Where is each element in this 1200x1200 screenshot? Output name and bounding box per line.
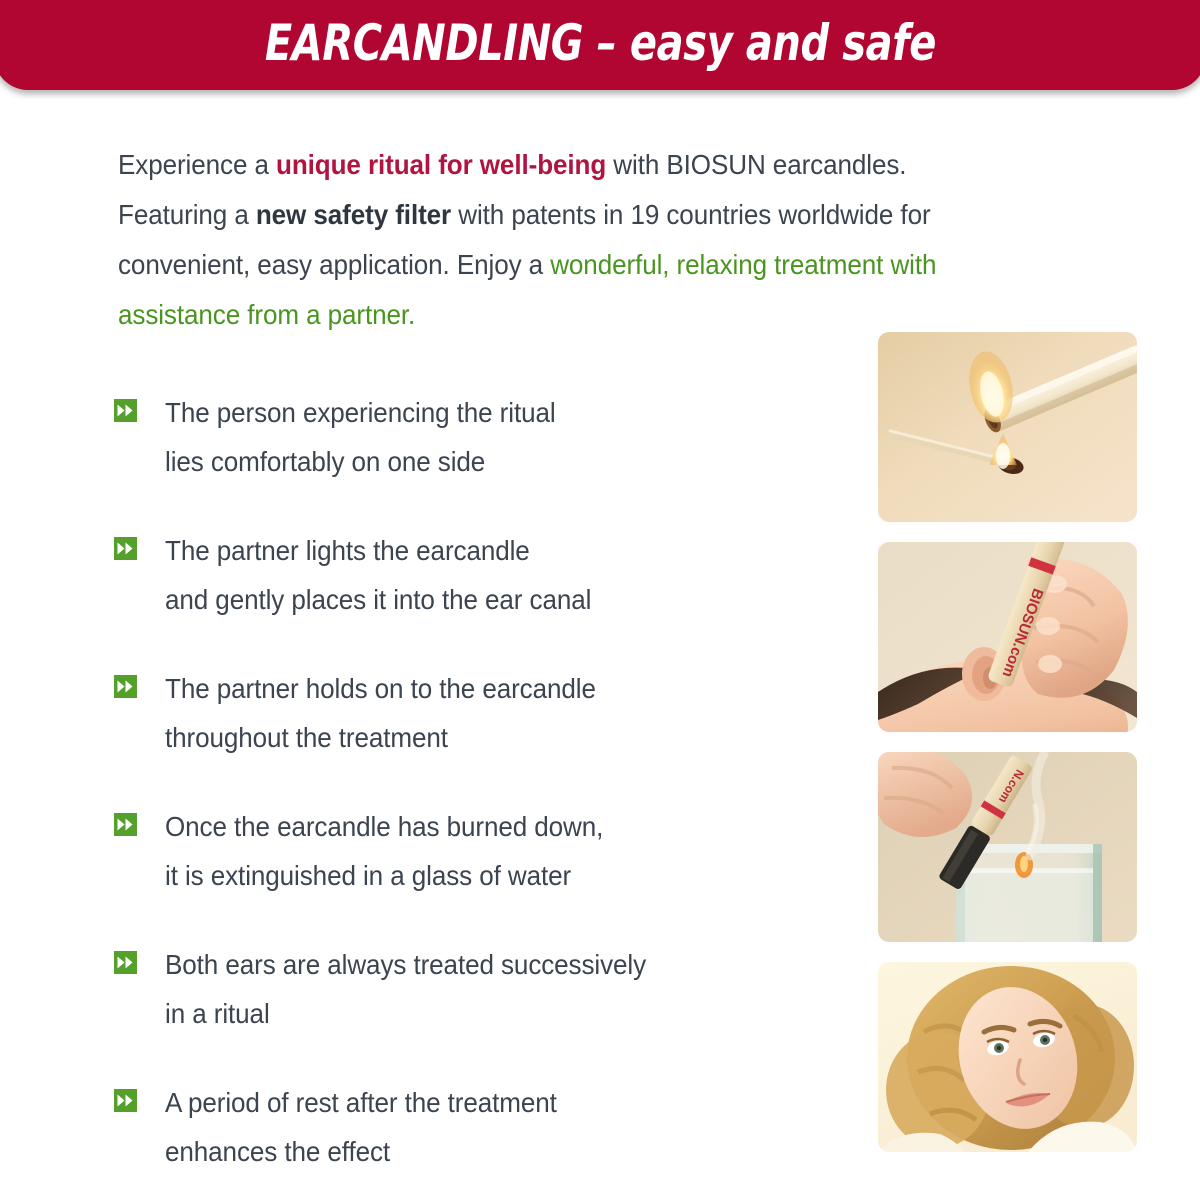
double-chevron-right-icon bbox=[114, 813, 137, 836]
list-item: The person experiencing the ritual lies … bbox=[114, 388, 834, 486]
earcandling-info-page: EARCANDLING – easy and safe Experience a… bbox=[0, 0, 1200, 1200]
steps-list: The person experiencing the ritual lies … bbox=[114, 388, 834, 1176]
photo-column: BIOSUN.com bbox=[878, 332, 1137, 1152]
list-item-label: Once the earcandle has burned down, it i… bbox=[165, 802, 603, 900]
intro-highlight-dark: new safety filter bbox=[256, 199, 451, 230]
photo-extinguishing-in-glass-of-water: N.com bbox=[878, 752, 1137, 942]
double-chevron-right-icon bbox=[114, 675, 137, 698]
intro-highlight-red: unique ritual for well-being bbox=[276, 149, 606, 180]
list-item: Once the earcandle has burned down, it i… bbox=[114, 802, 834, 900]
double-chevron-right-icon bbox=[114, 1089, 137, 1112]
list-item-label: Both ears are always treated successivel… bbox=[165, 940, 646, 1038]
list-item-label: The person experiencing the ritual lies … bbox=[165, 388, 556, 486]
list-item: The partner holds on to the earcandle th… bbox=[114, 664, 834, 762]
intro-segment-1: Experience a bbox=[118, 149, 276, 180]
list-item: The partner lights the earcandle and gen… bbox=[114, 526, 834, 624]
list-item-label: The partner lights the earcandle and gen… bbox=[165, 526, 591, 624]
photo-placing-earcandle-in-ear: BIOSUN.com bbox=[878, 542, 1137, 732]
intro-paragraph: Experience a unique ritual for well-bein… bbox=[118, 140, 960, 340]
list-item-label: The partner holds on to the earcandle th… bbox=[165, 664, 596, 762]
double-chevron-right-icon bbox=[114, 399, 137, 422]
list-item: Both ears are always treated successivel… bbox=[114, 940, 834, 1038]
photo-lighting-earcandle-with-match bbox=[878, 332, 1137, 522]
double-chevron-right-icon bbox=[114, 537, 137, 560]
header-banner: EARCANDLING – easy and safe bbox=[0, 0, 1200, 90]
list-item-label: A period of rest after the treatment enh… bbox=[165, 1078, 557, 1176]
list-item: A period of rest after the treatment enh… bbox=[114, 1078, 834, 1176]
photo-woman-resting bbox=[878, 962, 1137, 1152]
double-chevron-right-icon bbox=[114, 951, 137, 974]
page-title: EARCANDLING – easy and safe bbox=[264, 4, 935, 72]
